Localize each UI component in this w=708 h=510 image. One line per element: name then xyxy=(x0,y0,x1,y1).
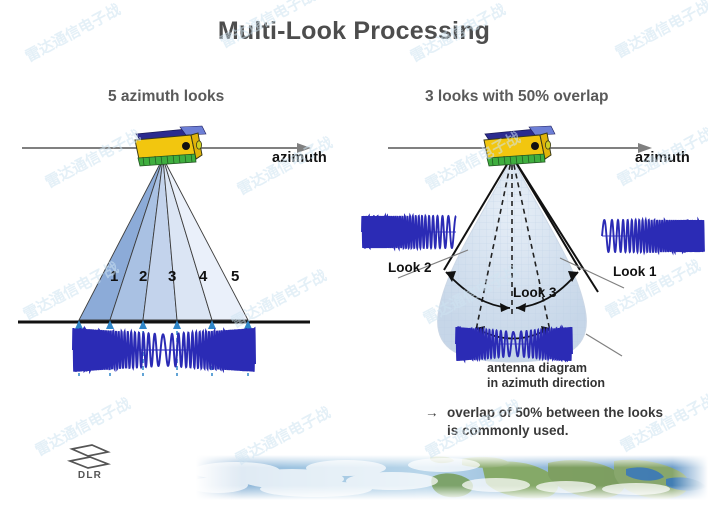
antenna-note-line-2: in azimuth direction xyxy=(487,376,605,391)
left-diagram xyxy=(0,110,360,510)
right-panel-subtitle: 3 looks with 50% overlap xyxy=(425,88,608,106)
dlr-logo-text: DLR xyxy=(62,470,118,481)
satellite-icon-right xyxy=(484,126,555,166)
antenna-note-line-1: antenna diagram xyxy=(487,361,605,376)
page-title: Multi-Look Processing xyxy=(0,17,708,46)
look-number-2: 2 xyxy=(139,268,147,285)
look-3-label: Look 3 xyxy=(513,285,557,300)
dlr-mark-icon xyxy=(62,443,118,471)
satellite-icon-left xyxy=(135,126,206,166)
look-number-4: 4 xyxy=(199,268,207,285)
slide-canvas: Multi-Look Processing 5 azimuth looks 3 … xyxy=(0,0,708,500)
antenna-diagram-note: antenna diagram in azimuth direction xyxy=(487,361,605,391)
azimuth-label-left: azimuth xyxy=(272,150,327,166)
bullet-line-1: overlap of 50% between the looks xyxy=(447,404,663,422)
look-2-label: Look 2 xyxy=(388,260,432,275)
bullet-arrow-icon: → xyxy=(425,404,439,422)
look-number-1: 1 xyxy=(110,268,118,285)
beam-wedges xyxy=(79,158,248,320)
chirp-look2 xyxy=(362,216,456,248)
dlr-logo: DLR xyxy=(62,443,118,485)
azimuth-chirp-left xyxy=(73,328,255,372)
overlap-bullet: → overlap of 50% between the looks is co… xyxy=(425,404,663,440)
chirp-look1 xyxy=(602,220,704,252)
look-number-5: 5 xyxy=(231,268,239,285)
left-panel-subtitle: 5 azimuth looks xyxy=(108,88,224,106)
look-number-3: 3 xyxy=(168,268,176,285)
earth-banner-image xyxy=(196,455,708,500)
look-1-label: Look 1 xyxy=(613,264,657,279)
azimuth-label-right: azimuth xyxy=(635,150,690,166)
bullet-line-2: is commonly used. xyxy=(447,422,663,440)
